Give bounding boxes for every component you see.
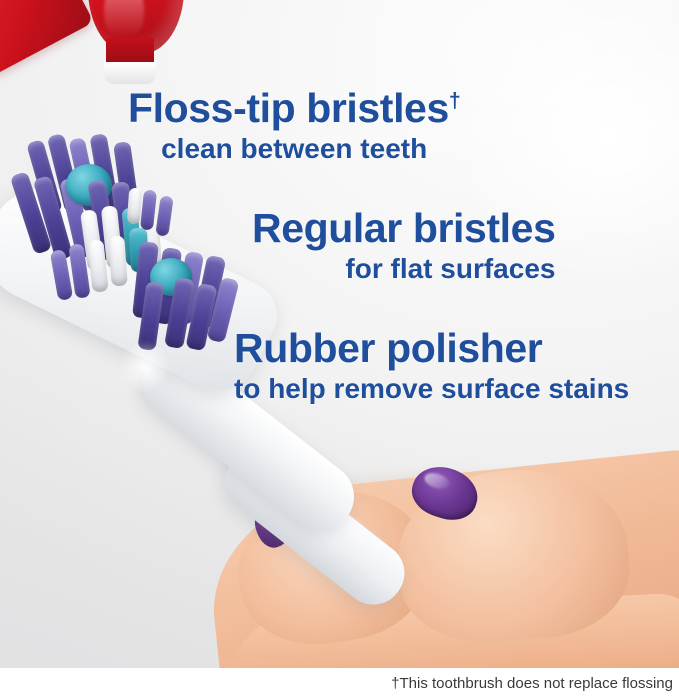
- footnote-band: †This toothbrush does not replace flossi…: [0, 668, 679, 698]
- feature-headline: Floss-tip bristles†: [128, 88, 460, 130]
- feature-subline: to help remove surface stains: [234, 374, 629, 404]
- feature-copy-group: Floss-tip bristles† clean between teeth …: [0, 0, 679, 698]
- feature-block-rubber-polisher: Rubber polisher to help remove surface s…: [234, 328, 629, 404]
- feature-headline-text: Rubber polisher: [234, 325, 542, 371]
- feature-headline: Regular bristles: [252, 208, 555, 250]
- feature-subline: clean between teeth: [128, 134, 460, 164]
- product-feature-image: Floss-tip bristles† clean between teeth …: [0, 0, 679, 698]
- feature-headline-text: Floss-tip bristles: [128, 85, 449, 131]
- footnote-marker-icon: †: [449, 88, 460, 112]
- feature-headline: Rubber polisher: [234, 328, 629, 370]
- feature-block-regular-bristles: Regular bristles for flat surfaces: [252, 208, 555, 284]
- feature-subline: for flat surfaces: [252, 254, 555, 284]
- feature-block-floss-tip: Floss-tip bristles† clean between teeth: [128, 88, 460, 164]
- feature-headline-text: Regular bristles: [252, 205, 555, 251]
- footnote-text: †This toothbrush does not replace flossi…: [391, 676, 673, 691]
